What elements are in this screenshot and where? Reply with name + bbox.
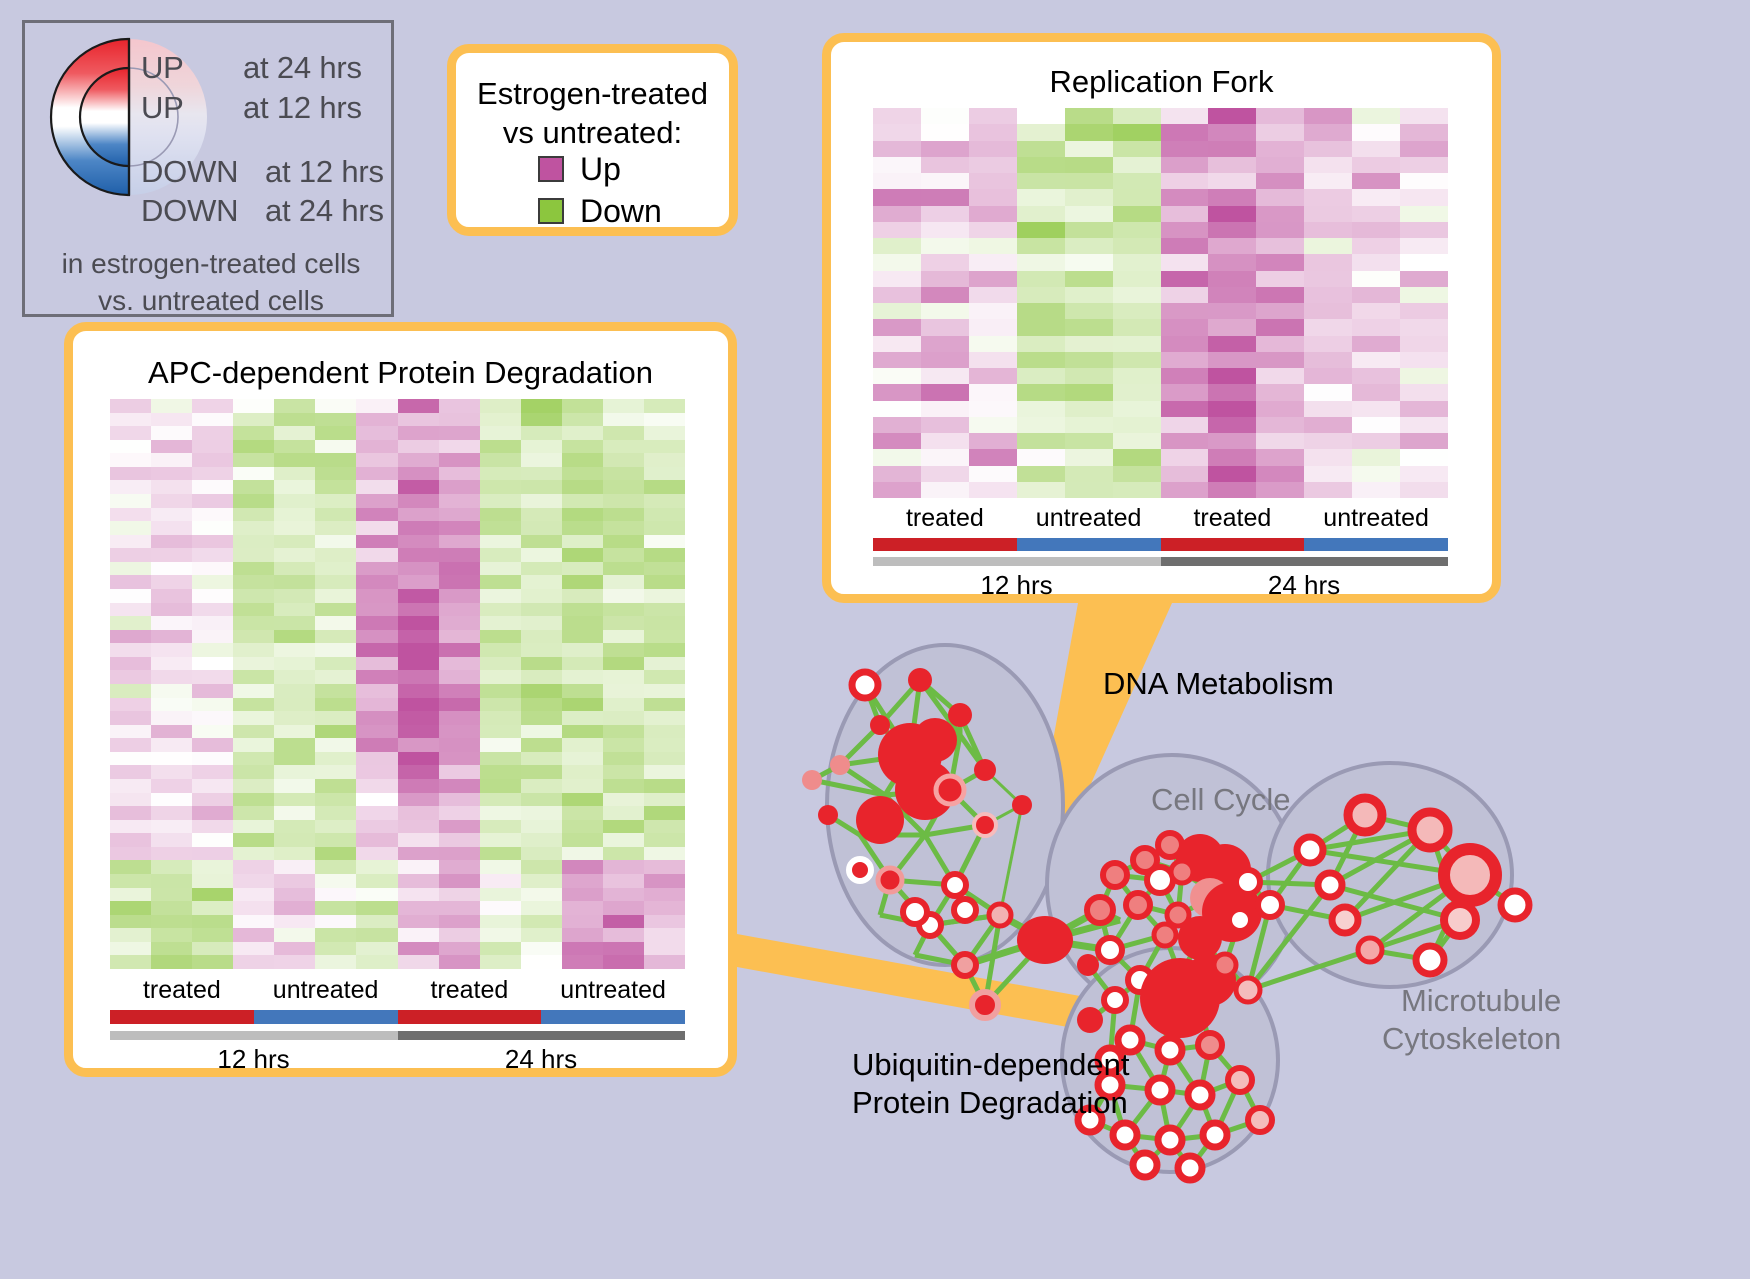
treatment-bar-segment-1: [254, 1010, 398, 1024]
estrogen-legend-title-line1: Estrogen-treated: [456, 74, 729, 113]
apc-heatmap: [110, 399, 685, 969]
time-bar-segment-1: [398, 1031, 686, 1040]
estrogen-legend-title-line2: vs untreated:: [456, 113, 729, 152]
colorwheel-caption: in estrogen-treated cells vs. untreated …: [25, 245, 397, 319]
cluster-label-ubiquitin-dependent-protein-degradation: Ubiquitin-dependent Protein Degradation: [852, 1046, 1130, 1122]
group-label-1: untreated: [1017, 504, 1161, 536]
down-color-swatch: [538, 198, 564, 224]
cluster-label-microtubule-cytoskeleton: Microtubule Cytoskeleton: [1382, 982, 1561, 1058]
group-label-3: untreated: [1304, 504, 1448, 536]
legend-item-down: Down: [538, 195, 662, 227]
replication-fork-treatment-bar: [873, 538, 1448, 551]
ubiquitin-label-line2: Protein Degradation: [852, 1084, 1130, 1122]
apc-treatment-bar: [110, 1010, 685, 1024]
up-color-swatch: [538, 156, 564, 182]
treatment-bar-segment-0: [873, 538, 1017, 551]
replication-fork-group-labels: treated untreated treated untreated: [873, 504, 1448, 536]
legend-row-0-label: UP: [141, 50, 184, 86]
replication-fork-time-labels: 12 hrs 24 hrs: [873, 570, 1448, 601]
apc-time-bar: [110, 1031, 685, 1040]
replication-fork-title: Replication Fork: [831, 64, 1492, 100]
treatment-bar-segment-2: [398, 1010, 542, 1024]
legend-row-0-time: at 24 hrs: [243, 50, 362, 86]
time-label-0: 12 hrs: [873, 570, 1160, 601]
caption-line-2: vs. untreated cells: [25, 282, 397, 319]
up-label: Up: [580, 153, 621, 185]
apc-panel: APC-dependent Protein Degradation treate…: [64, 322, 737, 1077]
time-label-0: 12 hrs: [110, 1044, 397, 1075]
group-label-0: treated: [873, 504, 1017, 536]
apc-group-labels: treated untreated treated untreated: [110, 976, 685, 1008]
microtubule-label-line1: Microtubule: [1382, 982, 1561, 1020]
time-bar-segment-0: [873, 557, 1161, 566]
time-bar-segment-1: [1161, 557, 1449, 566]
treatment-bar-segment-0: [110, 1010, 254, 1024]
apc-time-labels: 12 hrs 24 hrs: [110, 1044, 685, 1075]
treatment-bar-segment-2: [1161, 538, 1305, 551]
legend-row-3-label: DOWN: [141, 193, 238, 229]
time-label-1: 24 hrs: [397, 1044, 685, 1075]
apc-title: APC-dependent Protein Degradation: [73, 355, 728, 391]
estrogen-legend-title: Estrogen-treated vs untreated:: [456, 74, 729, 152]
group-label-1: untreated: [254, 976, 398, 1008]
group-label-2: treated: [398, 976, 542, 1008]
cluster-label-dna-metabolism: DNA Metabolism: [1103, 666, 1334, 702]
down-label: Down: [580, 195, 662, 227]
legend-row-1-label: UP: [141, 90, 184, 126]
microtubule-label-line2: Cytoskeleton: [1382, 1020, 1561, 1058]
estrogen-legend-card: Estrogen-treated vs untreated: Up Down: [447, 44, 738, 236]
figure-canvas: UP at 24 hrs UP at 12 hrs DOWN at 12 hrs…: [0, 0, 1750, 1279]
group-label-2: treated: [1161, 504, 1305, 536]
replication-fork-time-bar: [873, 557, 1448, 566]
legend-row-3-time: at 24 hrs: [265, 193, 384, 229]
time-label-1: 24 hrs: [1160, 570, 1448, 601]
colorwheel-legend: UP at 24 hrs UP at 12 hrs DOWN at 12 hrs…: [22, 20, 394, 317]
legend-row-2-time: at 12 hrs: [265, 154, 384, 190]
treatment-bar-segment-1: [1017, 538, 1161, 551]
ubiquitin-label-line1: Ubiquitin-dependent: [852, 1046, 1130, 1084]
pathway-network: [770, 620, 1730, 1275]
replication-fork-panel: Replication Fork treated untreated treat…: [822, 33, 1501, 603]
legend-item-up: Up: [538, 153, 621, 185]
group-label-0: treated: [110, 976, 254, 1008]
legend-row-2-label: DOWN: [141, 154, 238, 190]
caption-line-1: in estrogen-treated cells: [25, 245, 397, 282]
legend-row-1-time: at 12 hrs: [243, 90, 362, 126]
treatment-bar-segment-3: [541, 1010, 685, 1024]
time-bar-segment-0: [110, 1031, 398, 1040]
cluster-label-cell-cycle: Cell Cycle: [1151, 782, 1291, 818]
replication-fork-heatmap: [873, 108, 1448, 498]
group-label-3: untreated: [541, 976, 685, 1008]
treatment-bar-segment-3: [1304, 538, 1448, 551]
